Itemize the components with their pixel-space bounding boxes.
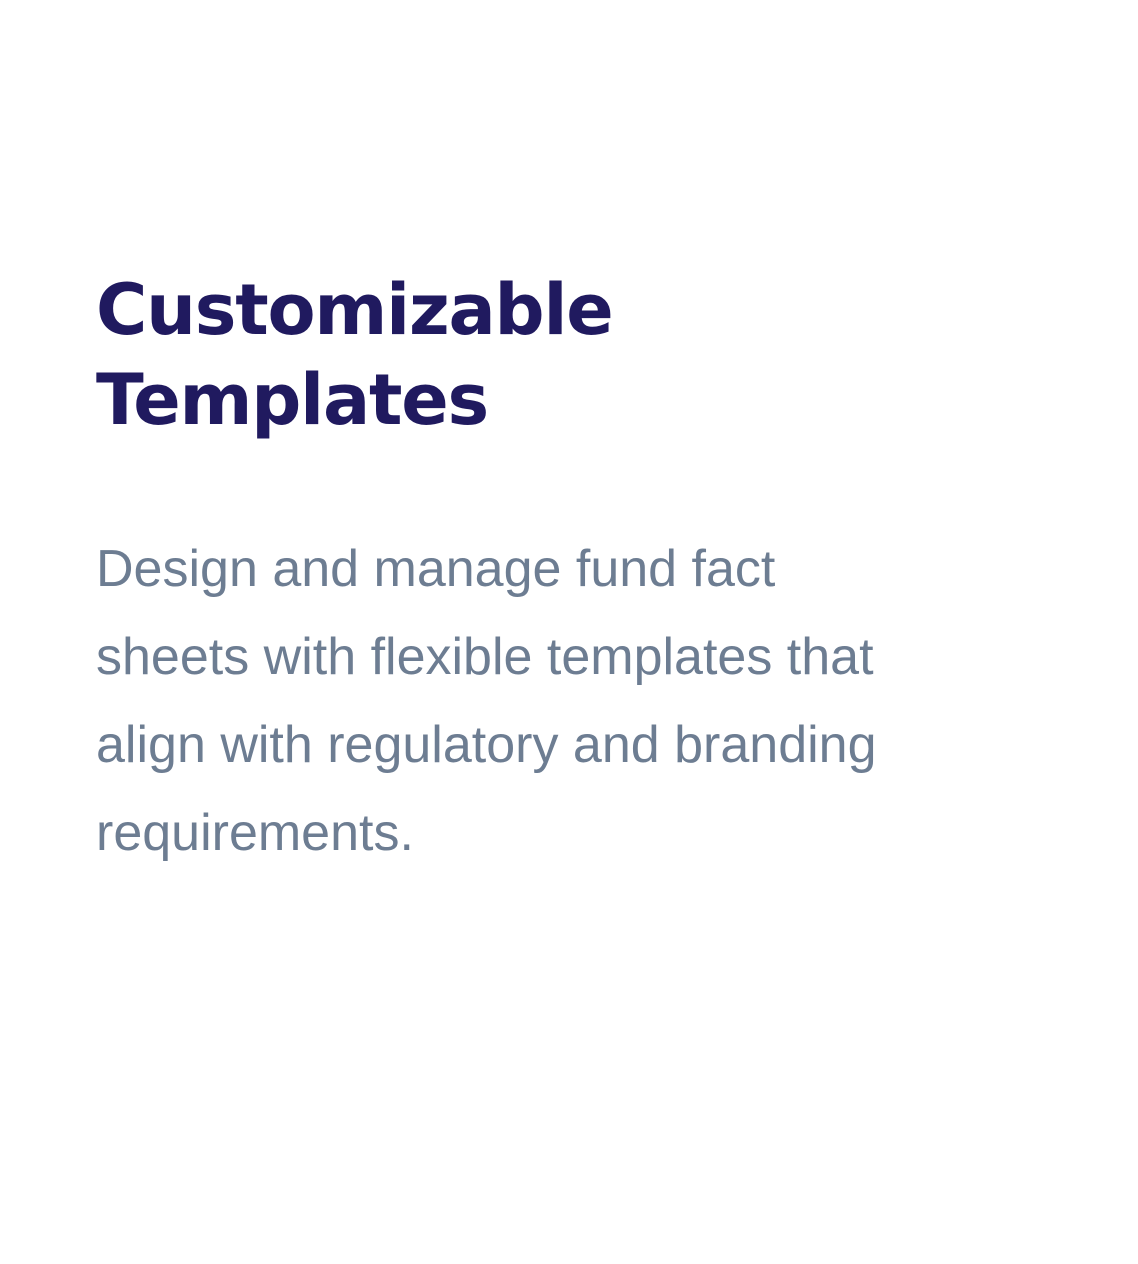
heading-body-spacer — [96, 445, 97, 525]
feature-heading: Customizable Templates — [96, 265, 716, 445]
feature-description: Design and manage fund fact sheets with … — [96, 525, 886, 877]
feature-card: Customizable Templates Design and manage… — [0, 0, 1138, 1264]
